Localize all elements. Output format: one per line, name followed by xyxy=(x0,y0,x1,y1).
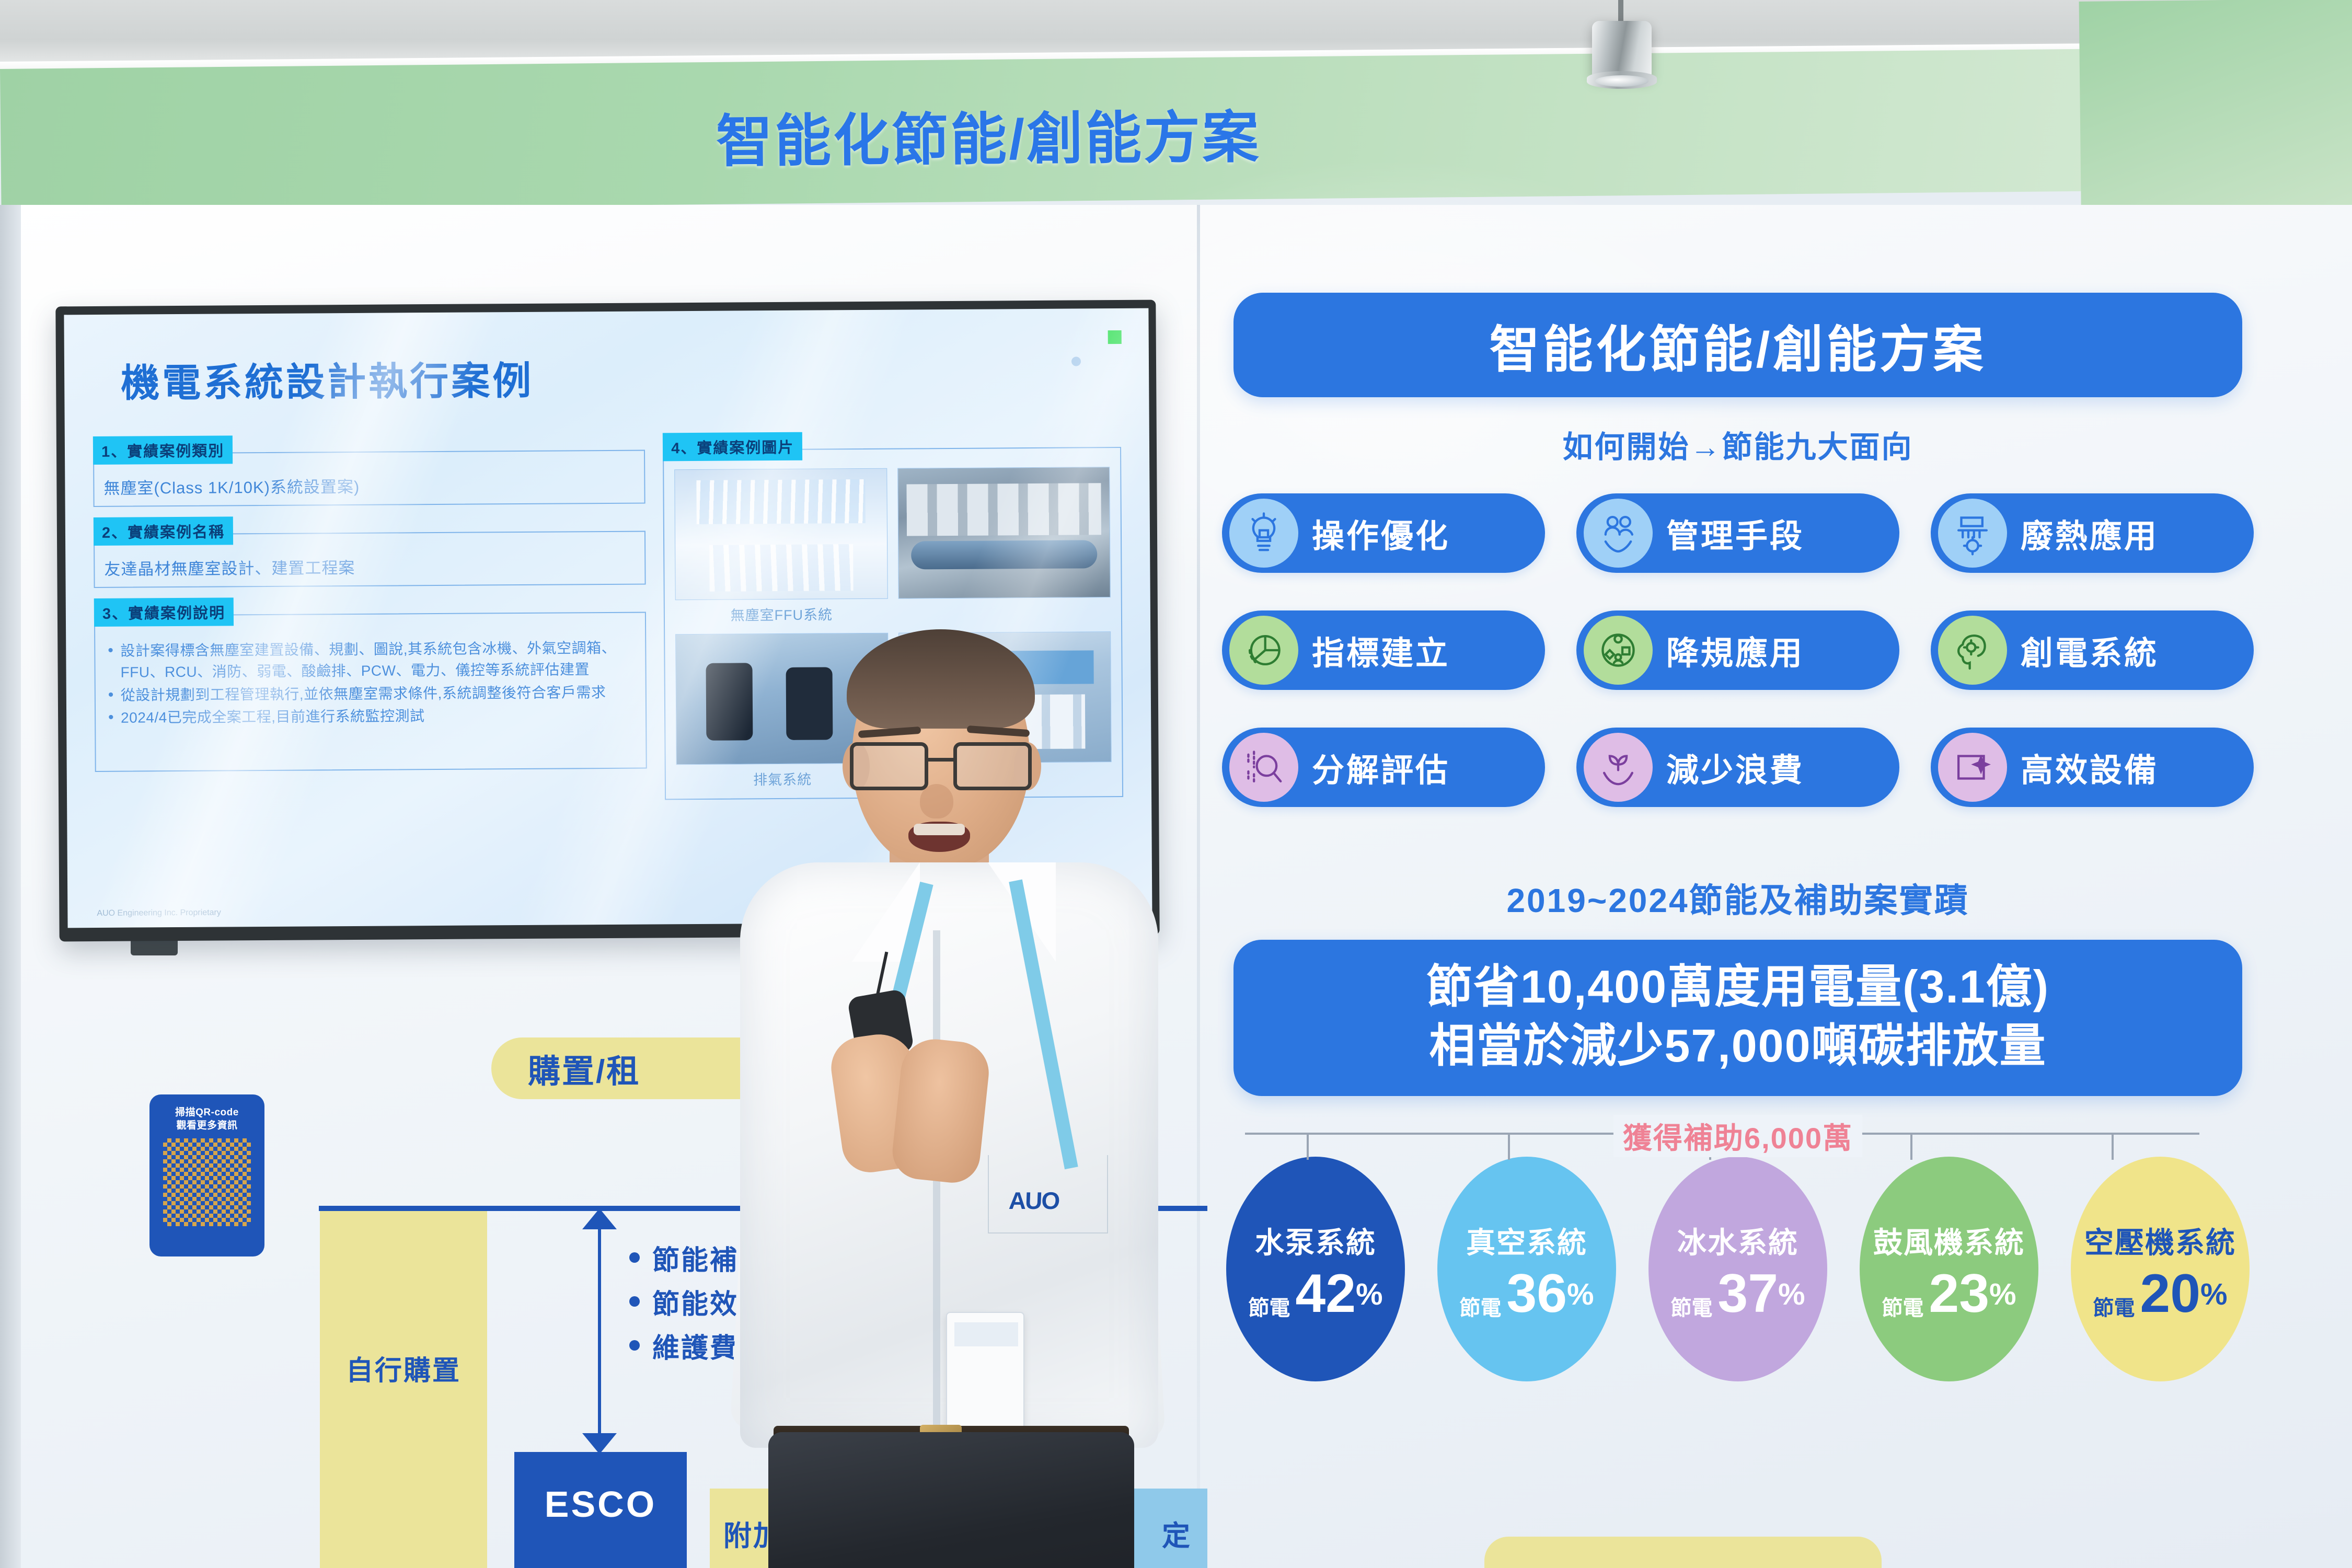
qr-card-line1: 掃描QR-code xyxy=(158,1106,256,1119)
badge-name: 水泵系統 xyxy=(1255,1219,1376,1262)
badge-prefix: 節電 xyxy=(2093,1298,2135,1319)
booth-scene: 智能化節能/創能方案 機電系統設計執行案例 1、實績案例類別 無塵室(Class… xyxy=(0,0,2352,1568)
section-3-tag: 3、實績案例說明 xyxy=(94,597,234,627)
arrow-head-down-icon xyxy=(582,1433,617,1454)
shirt-placket xyxy=(933,930,940,1443)
glasses-bridge xyxy=(928,758,953,762)
badge-chilled-water-system: 冰水系統 節電 37 % xyxy=(1648,1157,1827,1381)
aspect-pill-decomposition-analysis: 分解評估 xyxy=(1222,728,1545,807)
aspect-pill-power-generation-system: 創電系統 xyxy=(1931,610,2254,690)
qr-code-icon xyxy=(163,1138,251,1226)
badge-name: 真空系統 xyxy=(1466,1219,1587,1262)
savings-arrow-line xyxy=(598,1210,601,1453)
aspect-pill-downsizing-application: 降規應用 xyxy=(1576,610,1899,690)
section-1-tag: 1、實績案例類別 xyxy=(93,435,233,465)
badge-unit: % xyxy=(1356,1271,1383,1319)
badge-unit: % xyxy=(1567,1271,1594,1319)
aspect-label: 指標建立 xyxy=(1312,627,1450,674)
lens-right xyxy=(953,742,1032,790)
badge-value-group: 節電 20 % xyxy=(2093,1269,2227,1319)
aspect-label: 高效設備 xyxy=(2021,744,2159,791)
lightbulb-icon xyxy=(1229,499,1298,568)
aspect-label: 降規應用 xyxy=(1666,627,1804,674)
slide-section-3: 3、實績案例說明 設計案得標含無塵室建置設備、規劃、圖說,其系統包含冰機、外氣空… xyxy=(94,595,647,772)
badge-prefix: 節電 xyxy=(1459,1298,1501,1319)
badge-air-compressor-system: 空壓機系統 節電 20 % xyxy=(2071,1157,2250,1381)
slide-section-1: 1、實績案例類別 無塵室(Class 1K/10K)系統設置案) xyxy=(93,433,645,507)
badge-water-pump-system: 水泵系統 節電 42 % xyxy=(1226,1157,1405,1381)
pie-chart-icon xyxy=(1229,616,1298,685)
section-2-tag: 2、實績案例名稱 xyxy=(94,516,233,546)
device-spark-icon xyxy=(1938,733,2007,802)
poster-subtitle: 如何開始→節能九大面向 xyxy=(1218,422,2258,466)
list-item: 從設計規劃到工程管理執行,並依無塵室需求條件,系統調整後符合客戶需求 xyxy=(105,682,636,707)
badge-unit: % xyxy=(1989,1271,2016,1319)
slide-title: 機電系統設計執行案例 xyxy=(121,346,1121,408)
badge-name: 冰水系統 xyxy=(1677,1219,1798,1262)
system-savings-badges: 水泵系統 節電 42 % 真空系統 節電 36 % 冰水系統 節電 xyxy=(1218,1157,2258,1381)
aspect-pill-high-efficiency-equipment: 高效設備 xyxy=(1931,728,2254,807)
aspect-pill-operation-optimization: 操作優化 xyxy=(1222,493,1545,573)
badge-value-group: 節電 36 % xyxy=(1459,1269,1594,1319)
list-item: 設計案得標含無塵室建置設備、規劃、圖說,其系統包含冰機、外氣空調箱、FFU、RC… xyxy=(105,637,636,684)
list-item: 2024/4已完成全案工程,目前進行系統監控測試 xyxy=(105,704,636,729)
badge-value-group: 節電 37 % xyxy=(1670,1269,1805,1319)
badge-vacuum-system: 真空系統 節電 36 % xyxy=(1437,1157,1616,1381)
self-purchase-label: 自行購置 xyxy=(320,1354,487,1389)
people-hand-icon xyxy=(1584,499,1653,568)
subsidy-amount-label: 獲得補助6,000萬 xyxy=(1613,1115,1862,1157)
network-icon xyxy=(1584,616,1653,685)
subsidy-connector-row: 獲得補助6,000萬 xyxy=(1218,1112,2258,1150)
aspect-pill-kpi-establish: 指標建立 xyxy=(1222,610,1545,690)
aspect-label: 廢熱應用 xyxy=(2021,510,2159,557)
badge-number: 23 xyxy=(1929,1269,1989,1319)
aspect-label: 創電系統 xyxy=(2021,627,2159,674)
photo-cell xyxy=(897,467,1111,623)
lens-left xyxy=(850,742,928,790)
qr-card-line2: 觀看更多資訊 xyxy=(158,1119,256,1132)
wall-panel-seam xyxy=(1197,205,1200,1568)
presenter: AUO xyxy=(695,617,1197,1568)
connector-tick xyxy=(1910,1133,1912,1160)
connector-tick xyxy=(1508,1133,1510,1160)
badge-number: 37 xyxy=(1717,1269,1778,1319)
badge-blower-system: 鼓風機系統 節電 23 % xyxy=(1860,1157,2038,1381)
aspect-label: 管理手段 xyxy=(1666,510,1804,557)
section-3-bullet-list: 設計案得標含無塵室建置設備、規劃、圖說,其系統包含冰機、外氣空調箱、FFU、RC… xyxy=(105,637,636,729)
section-4-tag: 4、實績案例圖片 xyxy=(663,432,802,462)
id-badge-card xyxy=(946,1312,1024,1432)
aspect-pill-waste-heat-use: 廢熱應用 xyxy=(1931,493,2254,573)
badge-number: 36 xyxy=(1506,1269,1567,1319)
plant-hand-icon xyxy=(1584,733,1653,802)
slide-footer: AUO Engineering Inc. Proprietary xyxy=(97,908,221,918)
aspect-label: 減少浪費 xyxy=(1666,744,1804,791)
connector-tick xyxy=(2112,1133,2114,1160)
achievement-title: 2019~2024節能及補助案實蹟 xyxy=(1218,874,2258,922)
aspect-pill-reduce-waste: 減少浪費 xyxy=(1576,728,1899,807)
savings-line-2: 相當於減少57,000噸碳排放量 xyxy=(1254,1017,2221,1076)
auo-logo: AUO xyxy=(1008,1186,1059,1215)
badge-prefix: 節電 xyxy=(1882,1298,1923,1319)
photo-piping xyxy=(897,467,1111,598)
badge-number: 42 xyxy=(1295,1269,1356,1319)
trousers xyxy=(768,1432,1134,1568)
aspect-label: 操作優化 xyxy=(1312,510,1450,557)
photo-cell: 無塵室FFU系統 xyxy=(674,468,887,625)
arrow-head-up-icon xyxy=(582,1208,617,1229)
connector-tick xyxy=(1307,1133,1309,1160)
poster-bottom-accent xyxy=(1484,1537,1882,1568)
mouth xyxy=(908,822,970,852)
slide-column-left: 1、實績案例類別 無塵室(Class 1K/10K)系統設置案) 2、實績案例名… xyxy=(93,433,648,814)
esco-bar: ESCO xyxy=(514,1452,687,1568)
hand-right xyxy=(890,1036,991,1185)
right-poster-panel: 智能化節能/創能方案 如何開始→節能九大面向 操作優化 xyxy=(1218,293,2258,1381)
hair xyxy=(847,629,1035,729)
qr-code-card: 掃描QR-code 觀看更多資訊 xyxy=(149,1094,264,1256)
spotlight-housing xyxy=(1592,21,1652,78)
brain-gear-icon xyxy=(1938,616,2007,685)
badge-unit: % xyxy=(2200,1271,2228,1319)
badge-prefix: 節電 xyxy=(1670,1298,1712,1319)
aspect-pill-management-method: 管理手段 xyxy=(1576,493,1899,573)
wall-left-edge xyxy=(0,205,21,1568)
tv-stand-leg-left xyxy=(131,941,178,955)
section-3-box: 設計案得標含無塵室建置設備、規劃、圖說,其系統包含冰機、外氣空調箱、FFU、RC… xyxy=(94,612,647,772)
magnifier-icon xyxy=(1229,733,1298,802)
badge-prefix: 節電 xyxy=(1248,1298,1290,1319)
factory-gear-icon xyxy=(1938,499,2007,568)
photo-cleanroom xyxy=(674,468,887,600)
section-1-text: 無塵室(Class 1K/10K)系統設置案) xyxy=(103,472,635,499)
nose xyxy=(920,784,953,818)
slide-section-2: 2、實績案例名稱 友達晶材無塵室設計、建置工程案 xyxy=(94,514,646,588)
savings-summary-box: 節省10,400萬度用電量(3.1億) 相當於減少57,000噸碳排放量 xyxy=(1233,940,2242,1096)
aspect-label: 分解評估 xyxy=(1312,744,1450,791)
self-purchase-bar xyxy=(320,1211,487,1568)
badge-value-group: 節電 23 % xyxy=(1882,1269,2016,1319)
badge-value-group: 節電 42 % xyxy=(1248,1269,1382,1319)
nine-aspects-grid: 操作優化 管理手段 xyxy=(1218,493,2258,807)
poster-title: 智能化節能/創能方案 xyxy=(1233,293,2242,397)
section-2-text: 友達晶材無塵室設計、建置工程案 xyxy=(104,553,635,580)
savings-line-1: 節省10,400萬度用電量(3.1億) xyxy=(1254,958,2221,1017)
badge-unit: % xyxy=(1778,1271,1805,1319)
spotlight-lens-icon xyxy=(1595,75,1648,87)
badge-name: 鼓風機系統 xyxy=(1873,1219,2025,1262)
badge-name: 空壓機系統 xyxy=(2084,1219,2236,1262)
badge-number: 20 xyxy=(2140,1269,2200,1319)
banner-title: 智能化節能/創能方案 xyxy=(716,92,1261,178)
